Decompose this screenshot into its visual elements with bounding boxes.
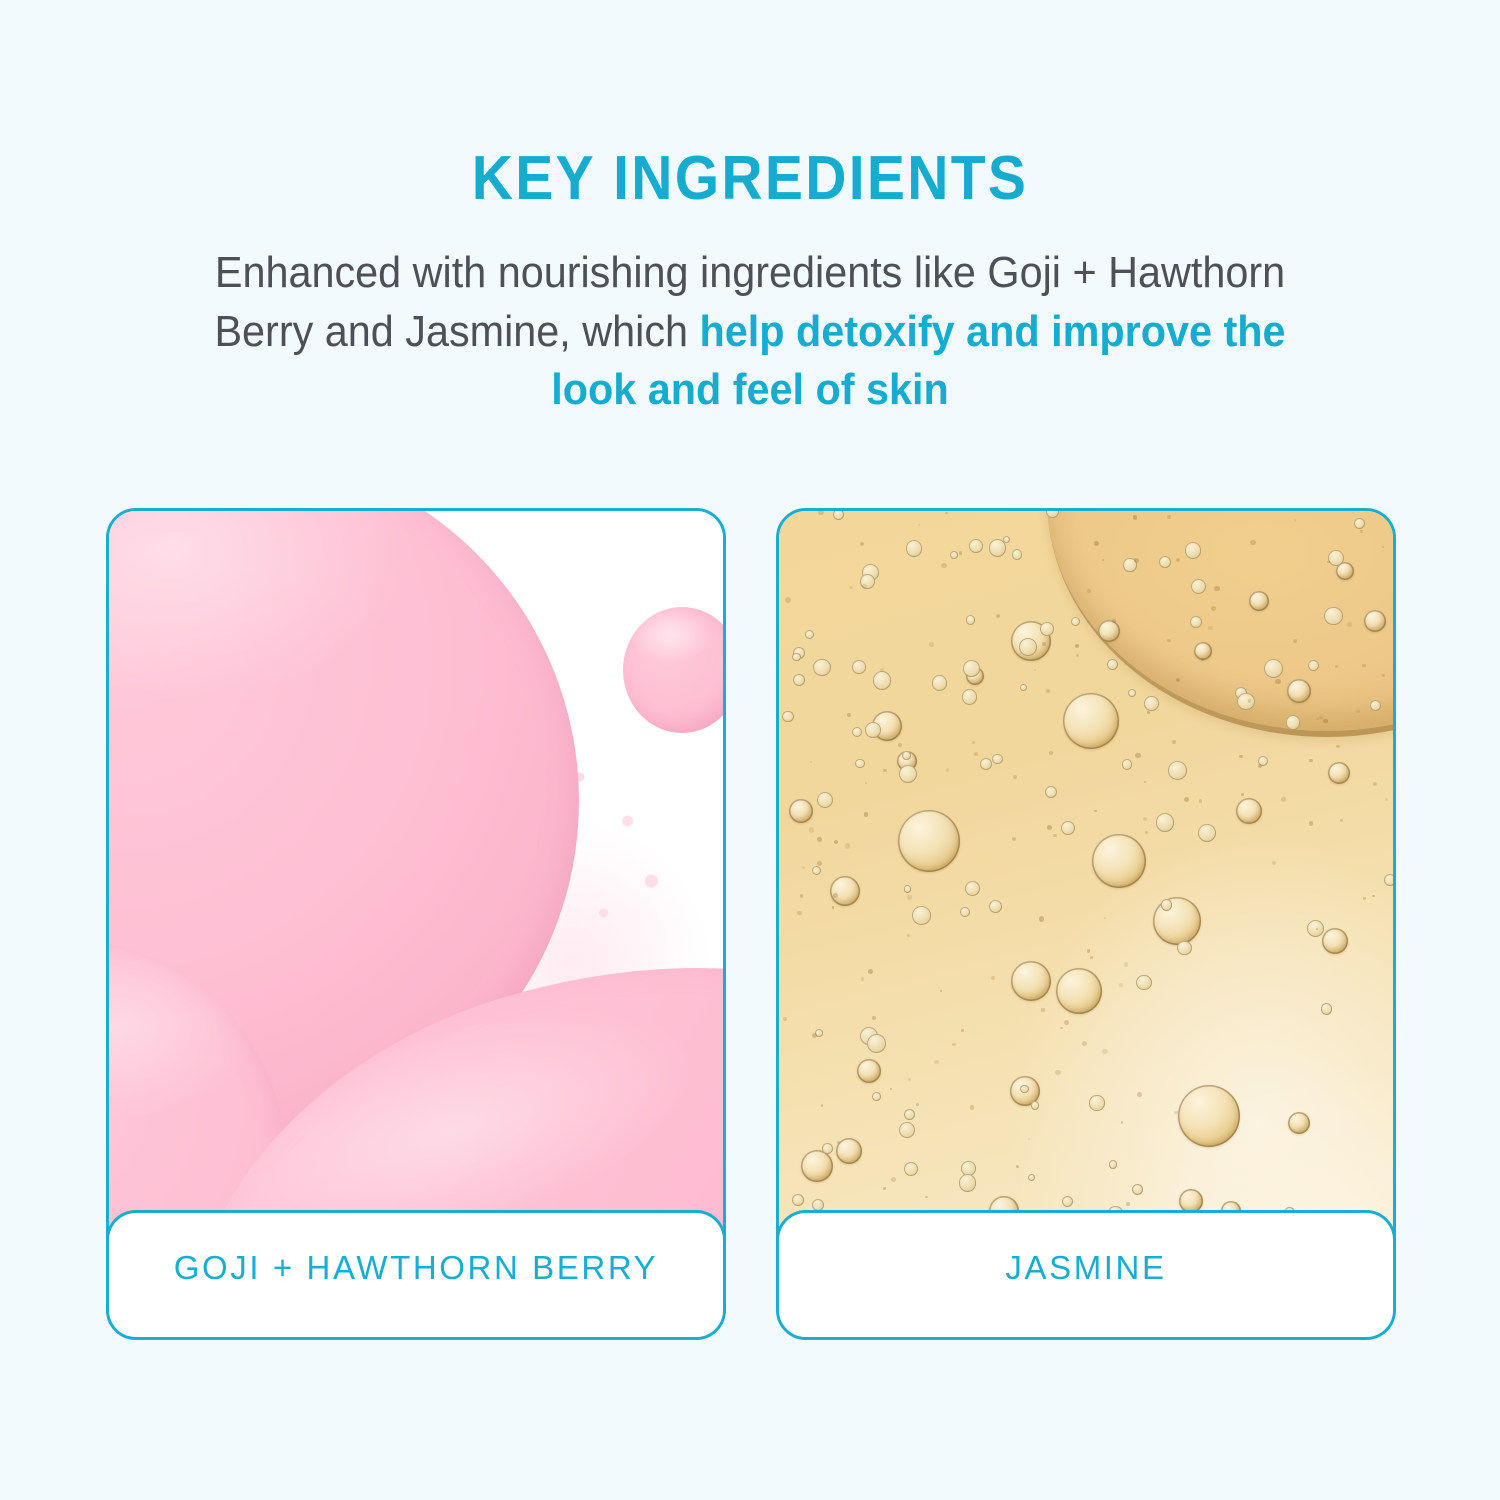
oil-speck: [868, 969, 873, 974]
oil-bubble-small: [865, 722, 881, 738]
oil-bubble-small: [1003, 536, 1010, 543]
oil-speck: [1208, 626, 1213, 631]
oil-speck: [934, 1060, 938, 1064]
oil-bubble-small: [782, 711, 794, 723]
page-subtitle: Enhanced with nourishing ingredients lik…: [195, 210, 1304, 420]
oil-speck: [1356, 710, 1360, 714]
oil-speck: [959, 551, 963, 555]
oil-speck: [907, 934, 910, 937]
oil-bubble-small: [962, 689, 978, 705]
oil-speck: [1275, 679, 1280, 684]
oil-speck: [1102, 1049, 1107, 1054]
oil-bubble-small: [1384, 874, 1393, 886]
oil-speck: [1372, 895, 1374, 897]
oil-speck: [1012, 837, 1016, 841]
oil-speck: [1347, 622, 1352, 627]
oil-speck: [847, 713, 851, 717]
oil-speck: [1309, 759, 1312, 762]
oil-bubble-small: [1107, 659, 1118, 670]
oil-bubble-small: [1237, 693, 1255, 711]
oil-bubble: [1287, 679, 1311, 703]
oil-bubble: [1236, 798, 1262, 824]
oil-bubble-small: [1019, 638, 1037, 656]
oil-speck: [1327, 561, 1330, 564]
oil-speck: [785, 597, 791, 603]
oil-bubble-small: [1185, 542, 1201, 558]
oil-speck: [1340, 819, 1343, 822]
card-label-text-goji: GOJI + HAWTHORN BERRY: [174, 1213, 659, 1287]
oil-bubble-small: [1198, 824, 1216, 842]
oil-speck: [1382, 546, 1384, 548]
oil-speck: [1119, 983, 1122, 986]
oil-speck: [1319, 716, 1323, 720]
oil-bubble-small: [1354, 518, 1365, 529]
oil-bubble-small: [852, 660, 865, 673]
ingredient-card-jasmine[interactable]: JASMINE: [776, 508, 1396, 1340]
oil-speck: [833, 893, 838, 898]
oil-bubble-small: [989, 900, 1002, 913]
oil-bubble-small: [906, 540, 923, 557]
oil-speck: [929, 642, 933, 646]
oil-bubble-small: [873, 671, 892, 690]
oil-bubble-small: [912, 906, 931, 925]
oil-speck: [1135, 753, 1140, 758]
oil-bubble: [1092, 834, 1146, 888]
oil-bubble-small: [855, 759, 864, 768]
oil-speck: [783, 1017, 787, 1021]
oil-speck: [849, 586, 852, 589]
oil-speck: [1053, 834, 1056, 837]
oil-speck: [1049, 751, 1053, 755]
oil-speck: [1167, 639, 1171, 643]
oil-speck: [1047, 825, 1052, 830]
oil-speck: [834, 840, 838, 844]
oil-speck: [1176, 678, 1180, 682]
oil-speck: [1143, 817, 1147, 821]
oil-bubble-small: [969, 539, 983, 553]
oil-bubble-small: [1122, 759, 1133, 770]
oil-bubble-small: [1370, 700, 1381, 711]
ingredient-card-goji-hawthorn-berry[interactable]: GOJI + HAWTHORN BERRY: [106, 508, 726, 1340]
oil-speck: [1214, 586, 1219, 591]
oil-speck: [1133, 515, 1138, 520]
oil-speck: [1102, 559, 1104, 561]
oil-speck: [941, 563, 946, 568]
card-label-panel-jasmine: JASMINE: [776, 1210, 1396, 1340]
oil-bubble: [1056, 968, 1102, 1014]
oil-bubble-small: [950, 551, 958, 559]
oil-speck: [818, 511, 823, 515]
oil-bubble-small: [812, 866, 821, 875]
oil-speck: [974, 752, 978, 756]
oil-speck: [1055, 1070, 1060, 1075]
oil-bubble: [1178, 1085, 1240, 1147]
oil-speck: [845, 843, 850, 848]
oil-speck: [1336, 745, 1339, 748]
oil-speck: [991, 976, 995, 980]
oil-bubble-small: [963, 660, 980, 677]
oil-bubble: [1288, 1112, 1310, 1134]
oil-bubble-small: [1136, 975, 1152, 991]
oil-bubble-small: [1324, 607, 1342, 625]
oil-bubble-small: [817, 792, 833, 808]
oil-bubble: [1328, 762, 1350, 784]
oil-bubble-small: [1144, 696, 1159, 711]
oil-bubble: [801, 1150, 833, 1182]
key-ingredients-page: KEY INGREDIENTS Enhanced with nourishing…: [0, 0, 1500, 1500]
oil-bubble-small: [813, 659, 830, 676]
oil-speck: [1363, 897, 1366, 900]
oil-bubble-small: [1040, 622, 1054, 636]
oil-speck: [1134, 558, 1139, 563]
oil-bubble: [789, 799, 813, 823]
oil-speck: [952, 1043, 955, 1046]
oil-bubble: [1249, 591, 1269, 611]
oil-speck: [865, 782, 867, 784]
oil-speck: [872, 1016, 876, 1020]
oil-speck: [1199, 799, 1202, 802]
oil-speck: [1382, 674, 1384, 676]
oil-speck: [1184, 797, 1189, 802]
oil-speck: [1316, 718, 1318, 720]
oil-bubble-small: [899, 1122, 915, 1138]
oil-bubble: [1063, 693, 1119, 749]
oil-speck: [1064, 1020, 1069, 1025]
oil-bubble: [857, 1059, 881, 1083]
oil-speck: [817, 837, 822, 842]
oil-bubble-small: [1156, 813, 1174, 831]
oil-bubble-small: [1012, 549, 1023, 560]
oil-speck: [1174, 1111, 1178, 1115]
oil-speck: [1293, 639, 1297, 643]
oil-speck: [1294, 519, 1296, 521]
oil-speck: [1041, 1008, 1044, 1011]
oil-bubble-small: [1071, 617, 1080, 626]
oil-speck: [1039, 916, 1044, 921]
page-title: KEY INGREDIENTS: [60, 0, 1440, 210]
card-label-panel-goji: GOJI + HAWTHORN BERRY: [106, 1210, 726, 1340]
oil-bubble-small: [822, 1143, 833, 1154]
oil-bubble-small: [902, 751, 911, 760]
oil-speck: [817, 861, 822, 866]
oil-bubble-small: [1031, 1101, 1039, 1109]
oil-bubble-small: [1089, 1095, 1104, 1110]
oil-bubble-small: [959, 1174, 976, 1191]
oil-speck: [1258, 764, 1262, 768]
oil-bubble-small: [1321, 1003, 1333, 1015]
oil-speck: [1121, 1121, 1123, 1123]
oil-speck: [1046, 689, 1050, 693]
oil-bubble: [898, 810, 960, 872]
oil-bubble: [1098, 620, 1120, 642]
oil-bubble-small: [904, 885, 911, 892]
oil-speck: [1241, 793, 1244, 796]
oil-speck: [809, 827, 814, 832]
oil-speck: [800, 894, 804, 898]
oil-speck: [864, 812, 868, 816]
oil-bubble-small: [1286, 715, 1300, 729]
oil-bubble-small: [1161, 899, 1172, 910]
oil-speck: [1087, 949, 1090, 952]
oil-bubble: [1364, 610, 1386, 632]
ingredient-card-grid: GOJI + HAWTHORN BERRY JASMINE: [106, 508, 1396, 1340]
page-header: KEY INGREDIENTS Enhanced with nourishing…: [0, 0, 1500, 420]
oil-speck: [1362, 664, 1365, 667]
oil-speck: [821, 1104, 823, 1106]
oil-speck: [860, 542, 864, 546]
oil-speck: [1137, 1092, 1142, 1097]
oil-bubble: [1011, 961, 1051, 1001]
card-label-text-jasmine: JASMINE: [1005, 1213, 1166, 1287]
oil-bubble-small: [960, 907, 970, 917]
oil-speck: [1360, 530, 1362, 532]
oil-bubble: [1322, 928, 1348, 954]
oil-bubble: [830, 876, 860, 906]
oil-speck: [1323, 719, 1328, 724]
oil-speck: [908, 1078, 911, 1081]
oil-speck: [898, 743, 902, 747]
